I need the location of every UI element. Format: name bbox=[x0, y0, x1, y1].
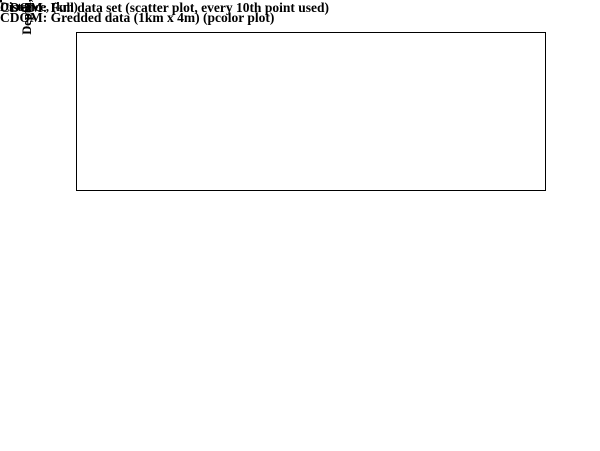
pcolor-axes[interactable] bbox=[76, 32, 546, 191]
scatter-x-axis-label: Distance, (km) bbox=[0, 0, 78, 15]
figure-canvas: CDOM: Gredded data (1km x 4m) (pcolor pl… bbox=[0, 0, 600, 451]
pcolor-data-layer bbox=[77, 33, 545, 190]
